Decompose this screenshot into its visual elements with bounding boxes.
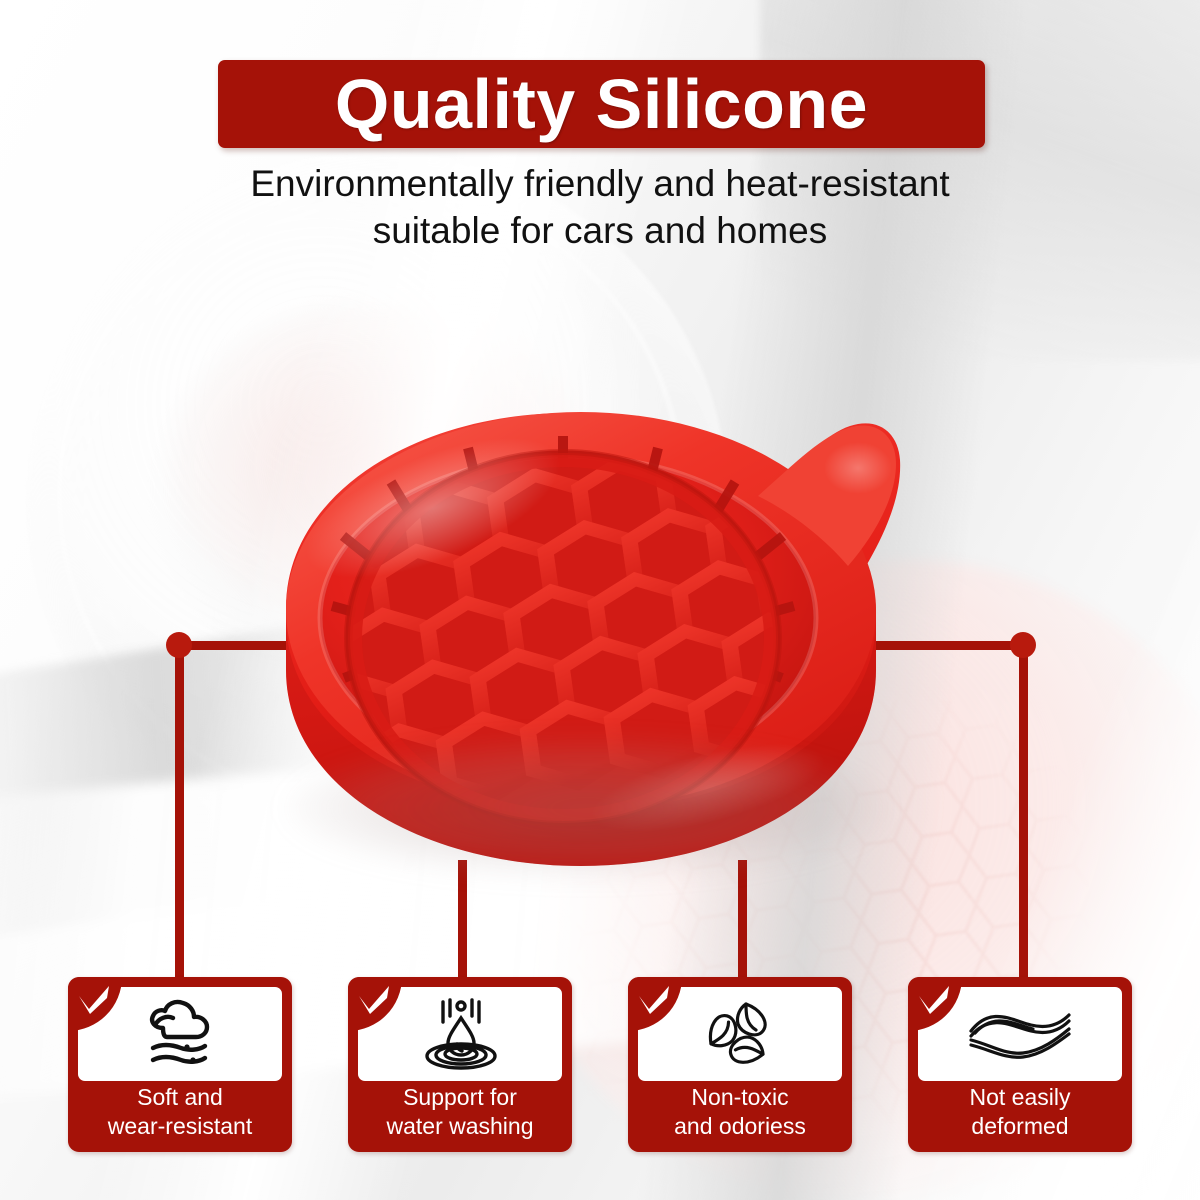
feature-card-2-label-line2: water washing bbox=[348, 1112, 572, 1141]
feature-card-4[interactable]: Not easily deformed bbox=[908, 977, 1132, 1152]
feature-card-3-label-line2: and odoriess bbox=[628, 1112, 852, 1141]
title-badge: Quality Silicone bbox=[218, 60, 985, 148]
feature-card-3-label-line1: Non-toxic bbox=[628, 1083, 852, 1112]
feature-card-1-label: Soft and wear-resistant bbox=[68, 1083, 292, 1141]
checkmark-icon bbox=[77, 985, 111, 1015]
checkmark-icon bbox=[637, 985, 671, 1015]
feature-card-4-label-line1: Not easily bbox=[908, 1083, 1132, 1112]
feature-card-1-label-line1: Soft and bbox=[68, 1083, 292, 1112]
connector-dot-left bbox=[166, 632, 192, 658]
water-drop-ripple-icon bbox=[420, 996, 500, 1072]
checkmark-icon bbox=[917, 985, 951, 1015]
feature-card-2-label-line1: Support for bbox=[348, 1083, 572, 1112]
connector-line-4-vertical bbox=[1019, 645, 1028, 985]
feature-card-4-check bbox=[908, 977, 962, 1031]
feature-card-2-label: Support for water washing bbox=[348, 1083, 572, 1141]
wavy-lines-icon bbox=[965, 1003, 1075, 1065]
page-title: Quality Silicone bbox=[335, 69, 868, 139]
feature-card-3-label: Non-toxic and odoriess bbox=[628, 1083, 852, 1141]
three-leaves-icon bbox=[700, 996, 780, 1072]
connector-line-1-vertical bbox=[175, 645, 184, 985]
feature-card-2[interactable]: Support for water washing bbox=[348, 977, 572, 1152]
checkmark-icon bbox=[357, 985, 391, 1015]
soft-cloud-icon bbox=[137, 998, 223, 1070]
feature-card-1-check bbox=[68, 977, 122, 1031]
feature-card-3[interactable]: Non-toxic and odoriess bbox=[628, 977, 852, 1152]
subtitle-line-2: suitable for cars and homes bbox=[0, 207, 1200, 254]
product-drop-shadow bbox=[286, 738, 886, 878]
feature-card-1-label-line2: wear-resistant bbox=[68, 1112, 292, 1141]
feature-card-1[interactable]: Soft and wear-resistant bbox=[68, 977, 292, 1152]
feature-card-2-check bbox=[348, 977, 402, 1031]
infographic-page: Quality Silicone Environmentally friendl… bbox=[0, 0, 1200, 1200]
feature-card-4-label-line2: deformed bbox=[908, 1112, 1132, 1141]
feature-card-3-check bbox=[628, 977, 682, 1031]
bowl-highlight-handle bbox=[824, 442, 892, 494]
product-image bbox=[238, 318, 938, 898]
subtitle-line-1: Environmentally friendly and heat-resist… bbox=[0, 160, 1200, 207]
feature-card-4-label: Not easily deformed bbox=[908, 1083, 1132, 1141]
subtitle: Environmentally friendly and heat-resist… bbox=[0, 160, 1200, 255]
connector-dot-right bbox=[1010, 632, 1036, 658]
